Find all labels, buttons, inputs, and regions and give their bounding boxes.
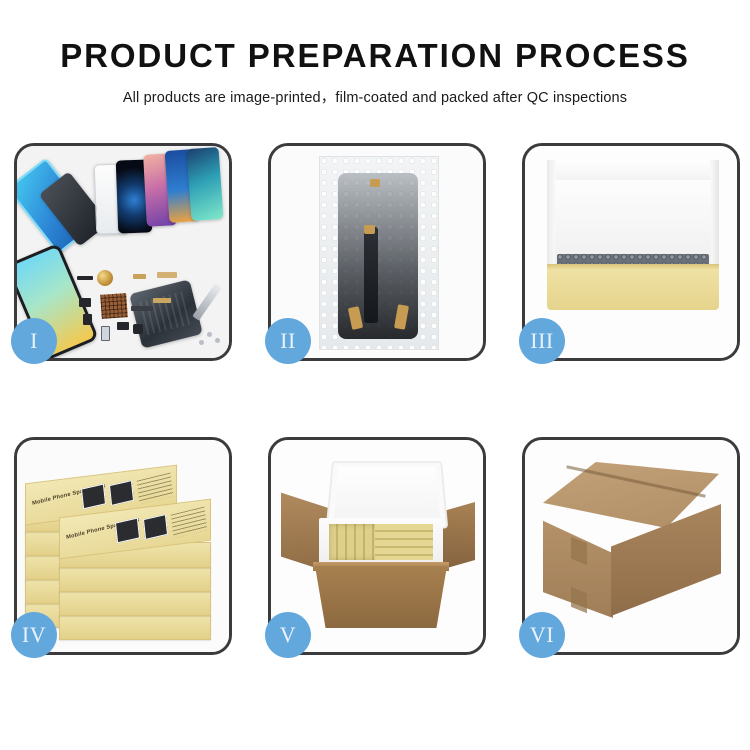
- process-step-5: V: [268, 437, 486, 655]
- step-numeral-badge: II: [265, 318, 311, 364]
- foam-lid-top: [547, 160, 719, 182]
- page-subtitle: All products are image-printed，film-coat…: [0, 86, 750, 107]
- step-numeral-badge: III: [519, 318, 565, 364]
- product-window: [81, 484, 106, 510]
- copper-grid-chip: [100, 293, 128, 319]
- process-step-6: VI: [522, 437, 740, 655]
- spare-part: [133, 274, 146, 279]
- screw: [207, 332, 212, 337]
- carton-front-panel: [315, 566, 447, 628]
- page-title: PRODUCT PREPARATION PROCESS: [0, 38, 750, 74]
- spare-part: [83, 314, 92, 325]
- spare-part: [101, 326, 110, 341]
- tape-tab: [370, 179, 380, 187]
- step-numeral-badge: IV: [11, 612, 57, 658]
- tape-tab: [364, 225, 375, 234]
- foam-lid-face: [555, 180, 711, 264]
- product-window: [115, 518, 140, 544]
- product-window: [143, 514, 168, 540]
- vibration-motor-part: [97, 270, 113, 286]
- flex-cable-part: [131, 306, 153, 311]
- flex-cable: [364, 227, 378, 323]
- gold-connector-part: [157, 272, 177, 278]
- step-numeral-badge: V: [265, 612, 311, 658]
- stacked-box: [59, 566, 211, 592]
- process-step-3: III: [522, 143, 740, 361]
- stacked-box: [59, 614, 211, 640]
- spare-part: [77, 276, 93, 280]
- disassembled-back-cover: [129, 279, 203, 348]
- spec-text-lines: [171, 506, 208, 538]
- product-window: [109, 480, 134, 506]
- step-numeral-badge: I: [11, 318, 57, 364]
- kraft-box-base: [547, 264, 719, 310]
- process-step-1: I: [14, 143, 232, 361]
- bubble-wrap-bag: [319, 156, 439, 350]
- process-step-grid: I II III: [14, 143, 740, 655]
- spec-text-lines: [137, 472, 174, 504]
- step-numeral-badge: VI: [519, 612, 565, 658]
- process-step-4: Mobile Phone Spare Parts Mobile Phone Sp…: [14, 437, 232, 655]
- process-step-2: II: [268, 143, 486, 361]
- stacked-box: [59, 590, 211, 616]
- spare-part: [117, 322, 129, 330]
- spare-part: [79, 298, 91, 307]
- teal-gradient-phone: [187, 147, 224, 221]
- screw: [215, 338, 220, 343]
- gold-connector-part: [153, 298, 171, 303]
- page-header: PRODUCT PREPARATION PROCESS All products…: [0, 0, 750, 107]
- packed-yellow-boxes: [375, 524, 433, 560]
- foam-lid-right-edge: [710, 160, 719, 270]
- spare-part: [133, 324, 143, 334]
- screw: [199, 340, 204, 345]
- screwdriver-tool: [192, 283, 221, 320]
- box-stack: Mobile Phone Spare Parts Mobile Phone Sp…: [23, 452, 223, 640]
